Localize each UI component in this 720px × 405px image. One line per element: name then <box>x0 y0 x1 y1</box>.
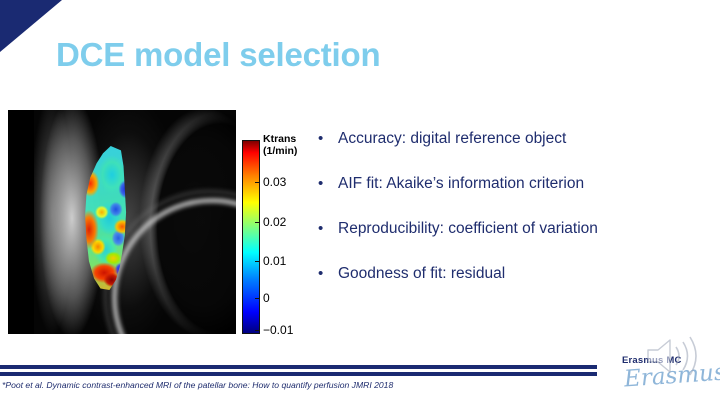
page-title: DCE model selection <box>56 36 380 74</box>
colorbar-gradient <box>242 140 260 334</box>
list-item: • Goodness of fit: residual <box>318 263 710 285</box>
list-item: • Accuracy: digital reference object <box>318 128 710 150</box>
colorbar-tick-3 <box>255 298 260 299</box>
slide-canvas: DCE model selection Ktrans (1/min) 0.03 … <box>0 0 720 405</box>
colorbar-title-line2: (1/min) <box>263 145 297 157</box>
list-item: • Reproducibility: coefficient of variat… <box>318 218 710 240</box>
colorbar-title: Ktrans (1/min) <box>263 133 297 157</box>
colorbar-label-1: 0.02 <box>263 215 286 229</box>
bullet-marker-icon: • <box>318 173 338 195</box>
colorbar-title-line1: Ktrans <box>263 133 297 145</box>
footer-citation: *Poot et al. Dynamic contrast-enhanced M… <box>2 380 393 390</box>
colorbar-tick-2 <box>255 261 260 262</box>
bullet-marker-icon: • <box>318 128 338 150</box>
colorbar-label-3: 0 <box>263 291 270 305</box>
colorbar-tick-0 <box>255 182 260 183</box>
colorbar: Ktrans (1/min) 0.03 0.02 0.01 0 −0.01 <box>241 133 319 338</box>
mri-air-region <box>8 110 34 334</box>
corner-accent-triangle <box>0 0 62 52</box>
mri-cortical-arc <box>112 198 236 334</box>
bullet-marker-icon: • <box>318 263 338 285</box>
speaker-icon[interactable] <box>638 334 704 378</box>
erasmus-mc-logo: Erasmus Erasmus MC <box>612 336 716 398</box>
bullet-text: AIF fit: Akaike’s information criterion <box>338 173 584 195</box>
bullet-text: Goodness of fit: residual <box>338 263 505 285</box>
dce-figure <box>8 110 236 334</box>
colorbar-label-2: 0.01 <box>263 254 286 268</box>
colorbar-tick-1 <box>255 222 260 223</box>
bullet-marker-icon: • <box>318 218 338 240</box>
mri-parametric-map-image <box>8 110 236 334</box>
colorbar-label-4: −0.01 <box>263 323 293 337</box>
colorbar-label-0: 0.03 <box>263 175 286 189</box>
colorbar-tick-4 <box>255 330 260 331</box>
list-item: • AIF fit: Akaike’s information criterio… <box>318 173 710 195</box>
bullet-list: • Accuracy: digital reference object • A… <box>318 128 710 308</box>
bullet-text: Accuracy: digital reference object <box>338 128 566 150</box>
bullet-text: Reproducibility: coefficient of variatio… <box>338 218 598 240</box>
footer-dotted-band <box>0 364 597 377</box>
